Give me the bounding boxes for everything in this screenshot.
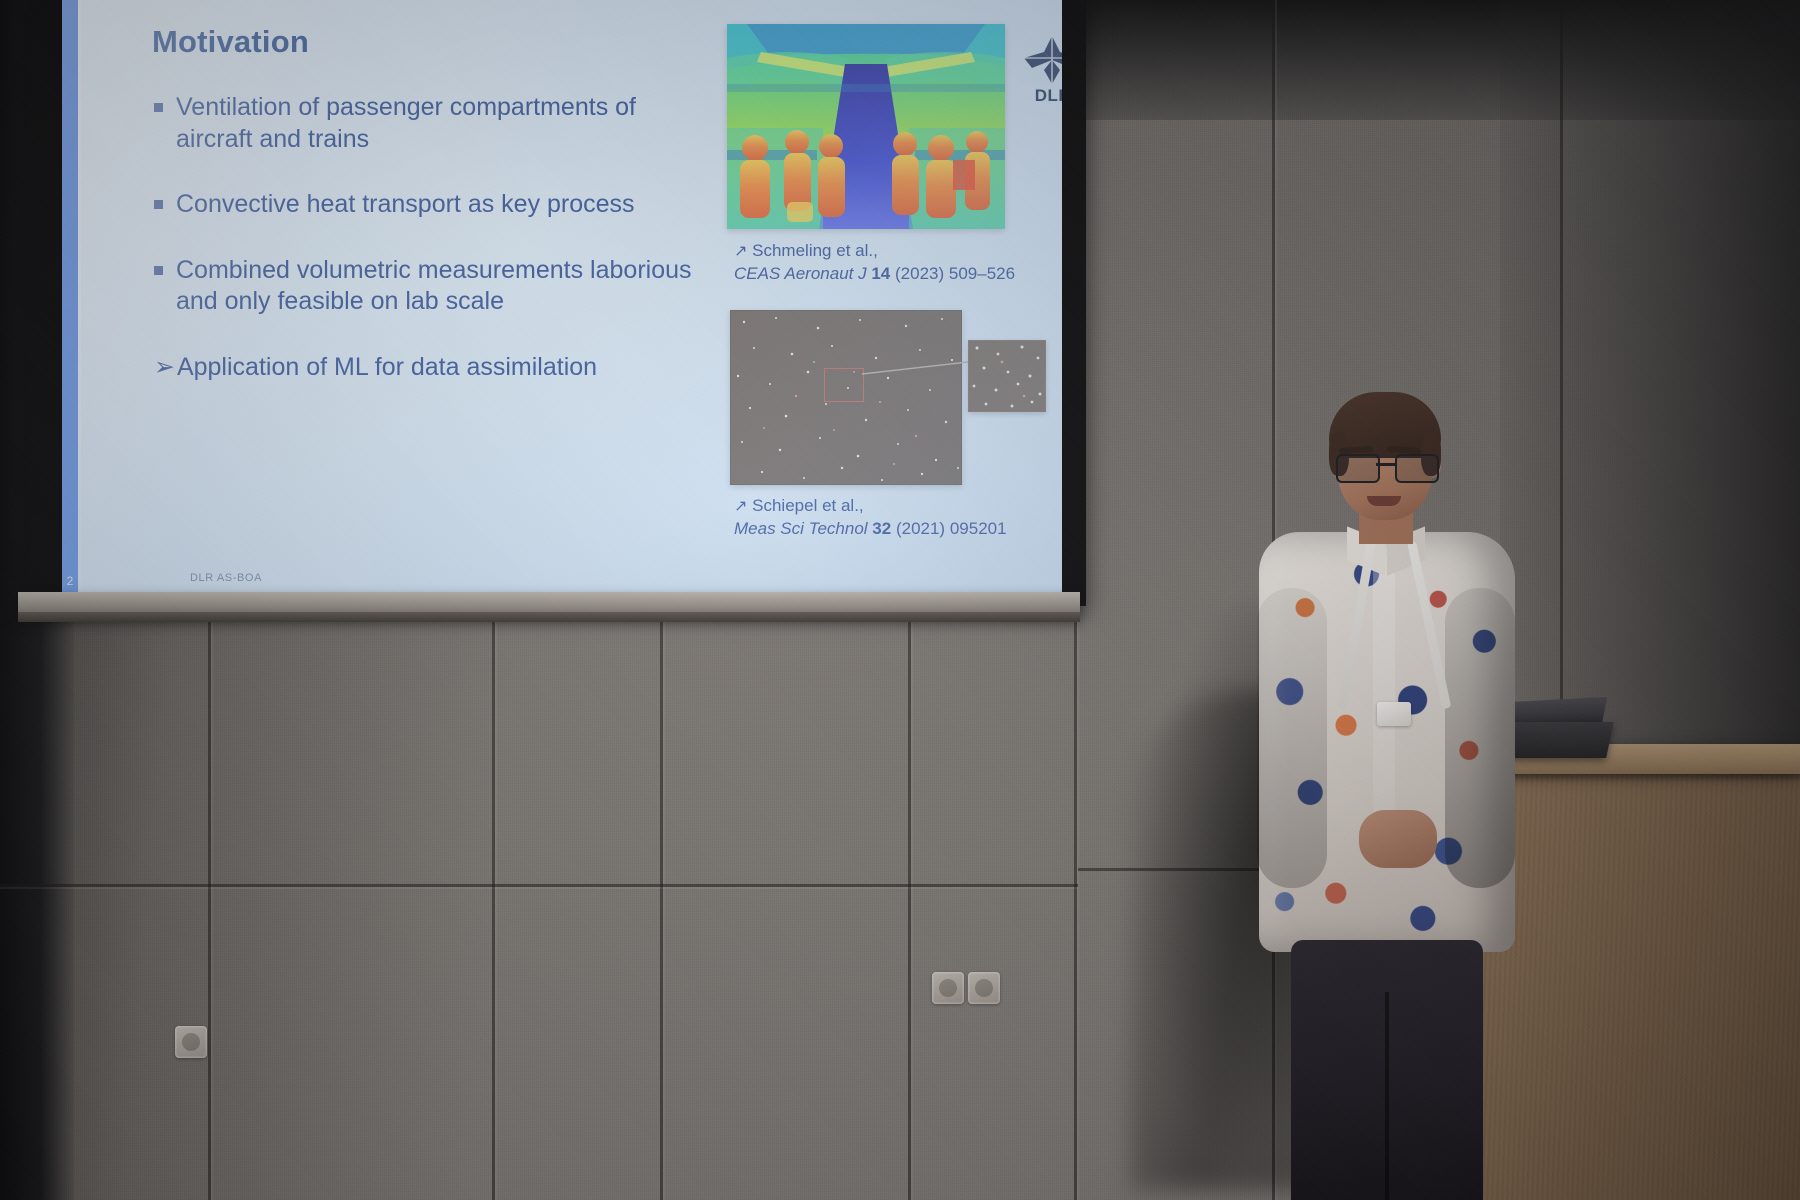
presenter-right-arm (1445, 588, 1515, 888)
dlr-logo-icon (1014, 32, 1062, 88)
region-of-interest-box (824, 368, 864, 402)
square-bullet-icon (154, 103, 163, 112)
thermal-cabin-image (727, 24, 1005, 229)
thermal-cabin-figure (727, 24, 1005, 229)
citation-author-line: ↗ Schmeling et al., (734, 240, 1015, 263)
citation-pages: 509–526 (949, 264, 1015, 283)
citation-journal: CEAS Aeronaut J (734, 264, 867, 283)
citation-journal-line: CEAS Aeronaut J 14 (2023) 509–526 (734, 263, 1015, 286)
wall-power-outlet[interactable] (175, 1026, 207, 1058)
glasses-bridge (1376, 463, 1395, 466)
glasses-lens-right (1395, 454, 1439, 483)
wall-panel-seam (1560, 0, 1563, 740)
particle-tracking-inset-image (968, 340, 1046, 412)
slide-footer-department: DLR AS-BOA (190, 572, 262, 584)
wall-panel-seam-highlight (911, 618, 913, 1200)
projection-screen-bar-shadow (18, 612, 1080, 622)
external-link-icon: ↗ (734, 243, 747, 260)
slide-accent-bar (62, 0, 78, 592)
glasses-lens-left (1336, 454, 1380, 483)
presenter-left-arm (1257, 588, 1327, 888)
presentation-slide: Motivation Ventilation of passenger comp… (62, 0, 1062, 592)
wall-panel-seam-highlight (211, 610, 213, 1200)
slide-accent-bar-edge (78, 0, 81, 592)
citation-author: Schiepel et al., (752, 496, 864, 515)
slide-bullet-text: Convective heat transport as key process (176, 189, 714, 221)
citation-year: (2021) (896, 519, 945, 538)
square-bullet-icon (154, 266, 163, 275)
square-bullet-icon (154, 200, 163, 209)
wall-panel-seam-highlight (0, 887, 1078, 889)
external-link-icon: ↗ (734, 498, 747, 515)
citation-journal: Meas Sci Technol (734, 519, 868, 538)
citation-year: (2023) (895, 264, 944, 283)
slide-page-number: 2 (62, 570, 78, 592)
slide-bullet-text: Combined volumetric measurements laborio… (176, 255, 714, 318)
citation-journal-line: Meas Sci Technol 32 (2021) 095201 (734, 518, 1007, 541)
arrow-bullet-icon: ➢ (154, 352, 175, 384)
conference-photo-scene: Motivation Ventilation of passenger comp… (0, 0, 1800, 1200)
citation-author: Schmeling et al., (752, 241, 878, 260)
presenter-hands (1359, 810, 1437, 868)
citation-author-line: ↗ Schiepel et al., (734, 495, 1007, 518)
slide-title: Motivation (152, 24, 309, 60)
wall-power-outlet[interactable] (932, 972, 964, 1004)
slide-bullet-list: Ventilation of passenger compartments of… (154, 92, 714, 417)
glasses-icon (1335, 454, 1439, 480)
slide-bullet-item: Combined volumetric measurements laborio… (154, 255, 714, 318)
trouser-leg-divide (1385, 992, 1389, 1200)
citation-volume: 14 (871, 264, 890, 283)
figure-citation-schiepel: ↗ Schiepel et al., Meas Sci Technol 32 (… (734, 495, 1007, 540)
roi-zoom-connector (860, 360, 970, 376)
name-badge (1377, 702, 1411, 726)
dlr-logo: DLR (1014, 32, 1062, 104)
citation-pages: 095201 (950, 519, 1007, 538)
slide-bullet-item: Ventilation of passenger compartments of… (154, 92, 714, 155)
particle-tracking-inset-figure (968, 340, 1046, 412)
slide-bullet-text: Application of ML for data assimilation (177, 352, 714, 384)
presenter (1255, 392, 1520, 1200)
slide-bullet-item-conclusion: ➢ Application of ML for data assimilatio… (154, 352, 714, 384)
shirt-placket (1373, 538, 1395, 838)
citation-volume: 32 (872, 519, 891, 538)
slide-bullet-text: Ventilation of passenger compartments of… (176, 92, 714, 155)
wall-panel-seam-highlight (495, 614, 497, 1200)
presenter-mouth (1367, 496, 1401, 506)
slide-bullet-item: Convective heat transport as key process (154, 189, 714, 221)
projection-screen-surface[interactable]: Motivation Ventilation of passenger comp… (62, 0, 1062, 592)
dlr-logo-text: DLR (1014, 86, 1062, 106)
wall-power-outlet[interactable] (968, 972, 1000, 1004)
figure-citation-schmeling: ↗ Schmeling et al., CEAS Aeronaut J 14 (… (734, 240, 1015, 285)
wall-panel-seam-highlight (663, 616, 665, 1200)
